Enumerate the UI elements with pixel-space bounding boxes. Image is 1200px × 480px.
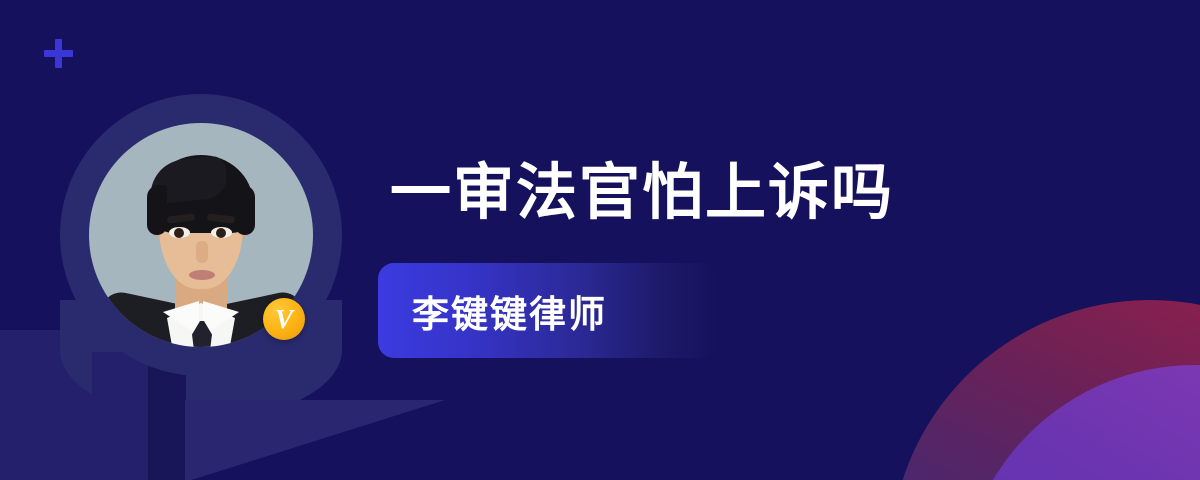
portrait-mouth [189, 270, 215, 280]
portrait-hair-side-right [235, 185, 255, 235]
avatar: V [60, 94, 342, 376]
verified-badge-icon: V [263, 298, 305, 340]
portrait-nose [196, 241, 208, 263]
portrait-hair-side-left [147, 185, 167, 235]
page-title: 一审法官怕上诉吗 [390, 158, 1010, 226]
decorative-circle-violet [960, 365, 1200, 480]
decorative-circle-crimson [890, 300, 1200, 480]
portrait-pupil-left [174, 228, 184, 238]
author-badge: 李键键律师 [378, 263, 716, 358]
verified-badge-letter: V [275, 306, 293, 333]
plus-icon [44, 39, 73, 68]
decorative-band-left [92, 352, 148, 480]
portrait-eye-right [211, 227, 232, 238]
decorative-triangle-left [185, 400, 445, 480]
lawyer-qa-banner: V 一审法官怕上诉吗 李键键律师 [0, 0, 1200, 480]
author-name: 李键键律师 [412, 284, 607, 338]
portrait-eye-left [169, 227, 190, 238]
portrait-pupil-right [216, 228, 226, 238]
